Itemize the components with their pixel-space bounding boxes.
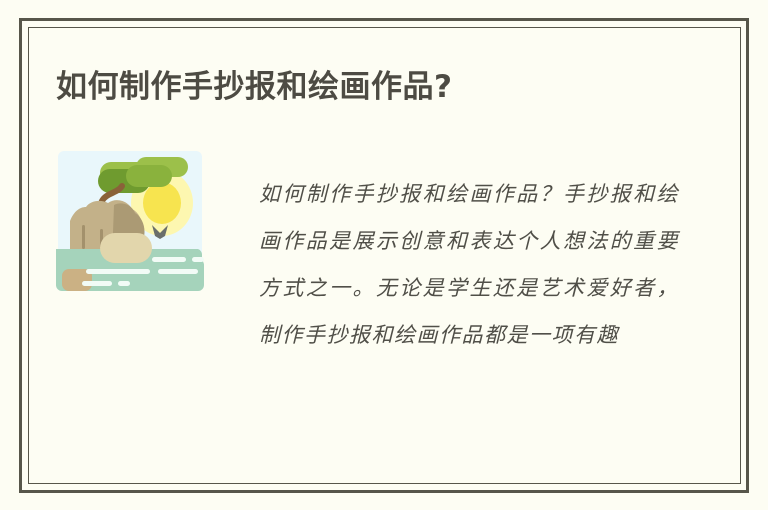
landscape-scene-illustration bbox=[56, 147, 204, 297]
document-page: 如何制作手抄报和绘画作品? bbox=[0, 0, 768, 510]
article-content: 如何制作手抄报和绘画作品? bbox=[28, 27, 741, 484]
page-title: 如何制作手抄报和绘画作品? bbox=[56, 67, 452, 107]
article-paragraph: 如何制作手抄报和绘画作品？手抄报和绘画作品是展示创意和表达个人想法的重要方式之一… bbox=[259, 171, 679, 359]
